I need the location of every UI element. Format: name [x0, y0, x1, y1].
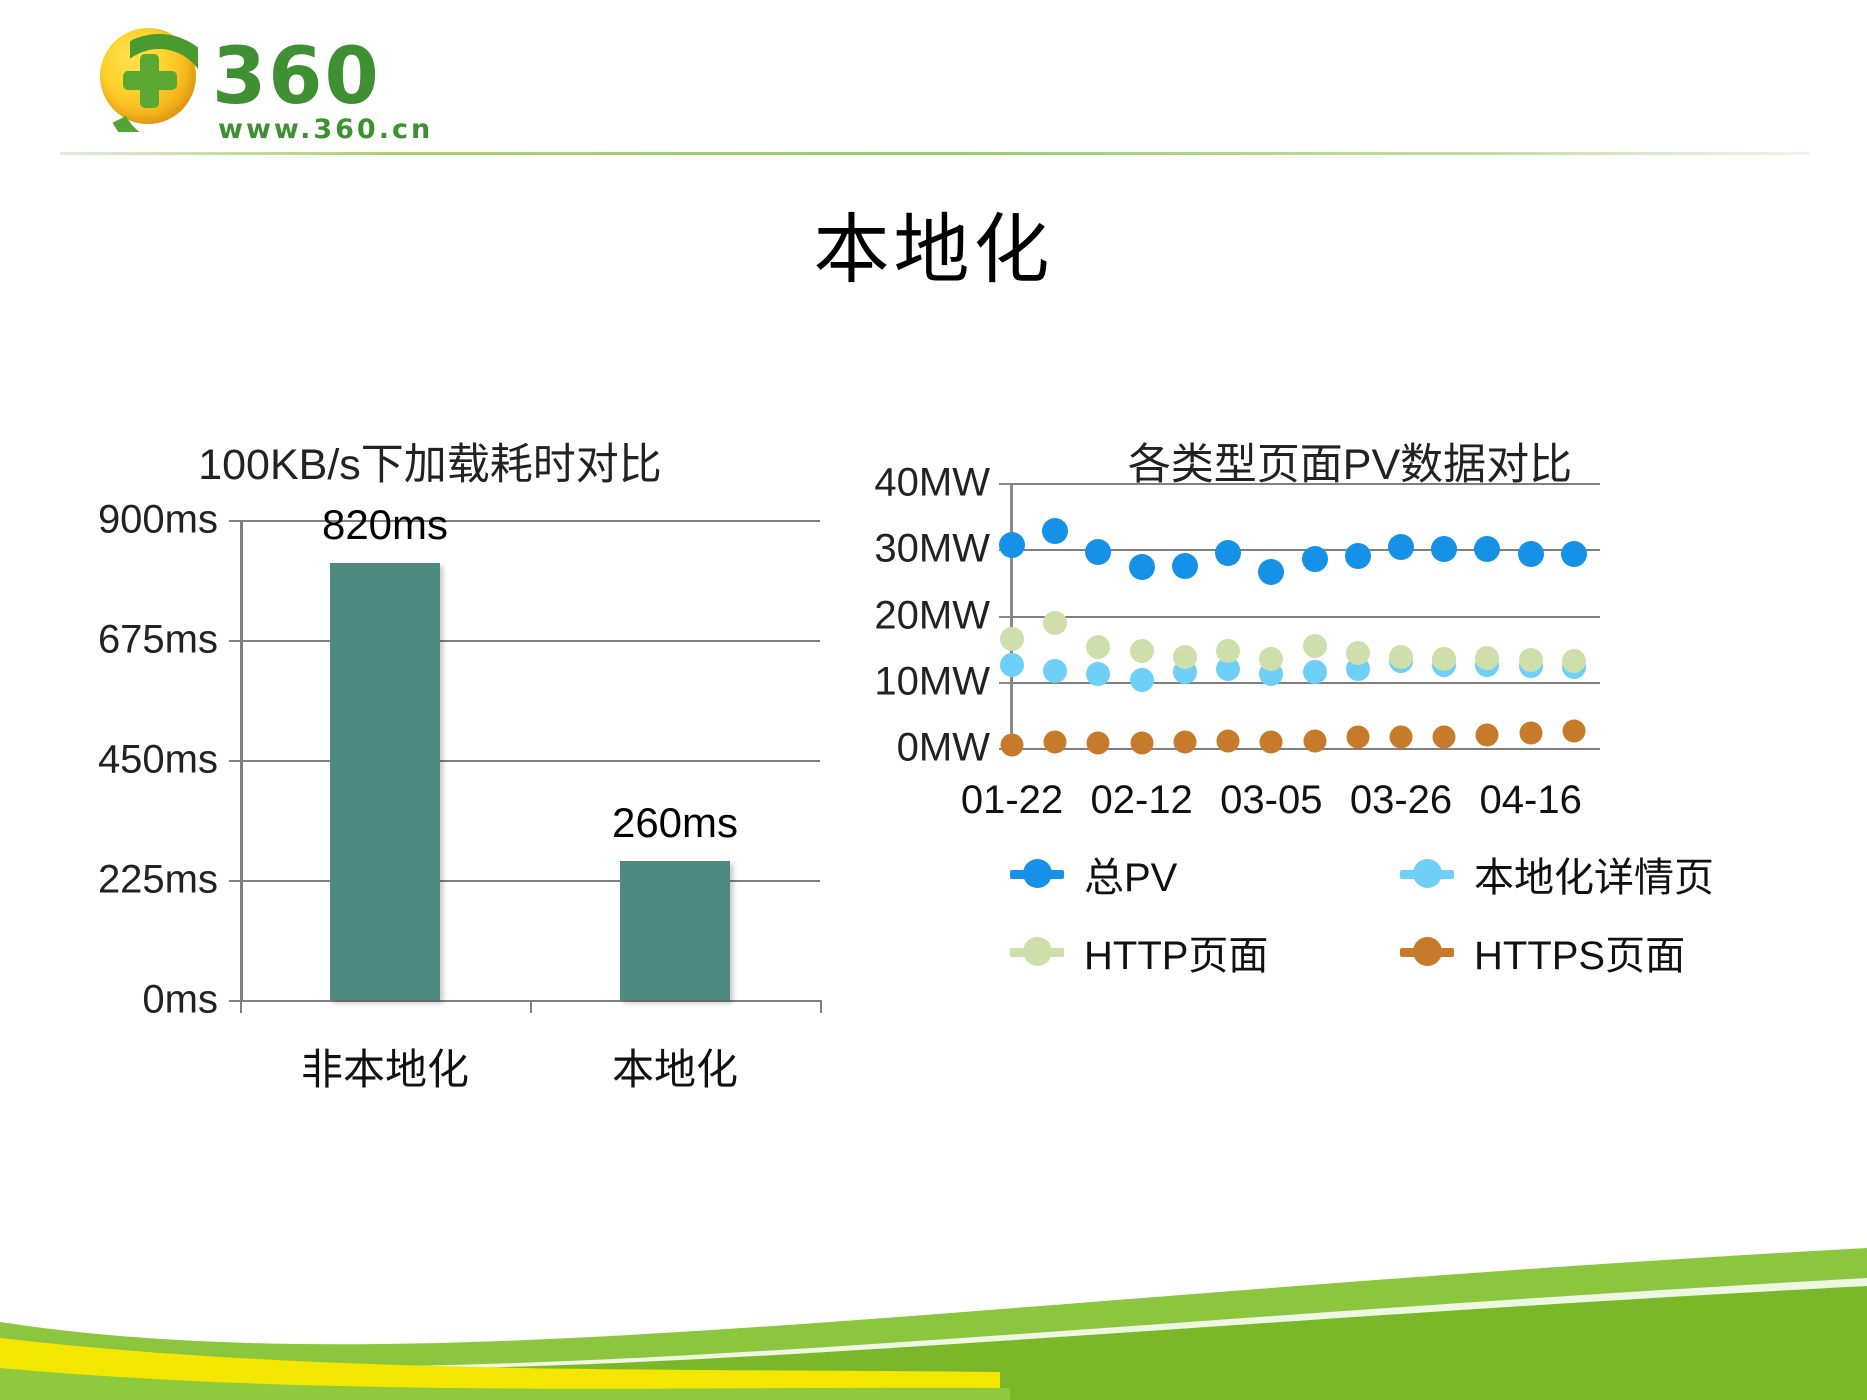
legend-item[interactable]: HTTPS页面: [1400, 923, 1685, 981]
scatter-data-point: [1303, 634, 1327, 658]
legend-label: HTTPS页面: [1474, 923, 1685, 981]
scatter-data-point: [999, 532, 1025, 558]
scatter-data-point: [1000, 627, 1024, 651]
scatter-data-point: [1172, 553, 1198, 579]
legend-label: 总PV: [1084, 845, 1177, 903]
scatter-data-point: [1303, 660, 1327, 684]
bar-chart: 100KB/s下加载耗时对比 900ms675ms450ms225ms0ms82…: [20, 430, 840, 1050]
scatter-data-point: [1346, 641, 1370, 665]
legend-marker-icon: [1010, 937, 1064, 967]
bar-value-label: 260ms: [612, 799, 738, 847]
bar-chart-x-tickmark: [530, 1000, 532, 1013]
scatter-data-point: [1259, 647, 1283, 671]
footer-decoration: [0, 1200, 1867, 1400]
scatter-chart-x-tick-label: 04-16: [1480, 778, 1582, 823]
bar-chart-y-tickmark: [229, 760, 242, 762]
scatter-data-point: [1085, 539, 1111, 565]
scatter-chart-y-tick-label: 40MW: [874, 461, 990, 506]
scatter-data-point: [1476, 724, 1499, 747]
legend-marker-icon: [1400, 859, 1454, 889]
scatter-data-point: [1087, 731, 1110, 754]
brand-logo: 360 www.360.cn: [100, 22, 460, 127]
scatter-data-point: [1475, 646, 1499, 670]
legend-label: HTTP页面: [1084, 923, 1268, 981]
bar-chart-title: 100KB/s下加载耗时对比: [20, 430, 840, 492]
scatter-data-point: [1044, 731, 1067, 754]
scatter-chart-gridline: [1010, 483, 1600, 485]
bar-chart-gridline: [240, 640, 820, 642]
scatter-chart-y-tick-label: 30MW: [874, 527, 990, 572]
header-divider: [60, 152, 1810, 155]
bar-chart-y-tick-label: 0ms: [142, 978, 218, 1023]
bar-chart-y-tick-label: 450ms: [98, 738, 218, 783]
legend-marker-icon: [1400, 937, 1454, 967]
bar: [330, 563, 440, 1000]
scatter-chart: 各类型页面PV数据对比 40MW30MW20MW10MW0MW01-2202-1…: [860, 430, 1840, 1190]
bar-chart-gridline: [240, 760, 820, 762]
scatter-data-point: [1173, 731, 1196, 754]
scatter-data-point: [1346, 726, 1369, 749]
scatter-data-point: [1562, 719, 1585, 742]
logo-url: www.360.cn: [218, 114, 433, 145]
footer-swoosh-icon: [0, 1200, 1867, 1400]
scatter-chart-y-tickmark: [999, 682, 1011, 684]
bar-value-label: 820ms: [322, 501, 448, 549]
scatter-data-point: [1260, 731, 1283, 754]
scatter-data-point: [1217, 729, 1240, 752]
scatter-data-point: [1000, 653, 1024, 677]
scatter-data-point: [1519, 648, 1543, 672]
360-shield-plus-icon: [100, 28, 196, 124]
scatter-data-point: [1130, 639, 1154, 663]
scatter-chart-y-tick-label: 0MW: [897, 726, 990, 771]
scatter-data-point: [1345, 543, 1371, 569]
logo-plus-horizontal-icon: [123, 71, 177, 90]
scatter-data-point: [1130, 732, 1153, 755]
legend-label: 本地化详情页: [1474, 845, 1714, 903]
scatter-data-point: [1258, 559, 1284, 585]
scatter-chart-x-tick-label: 03-05: [1220, 778, 1322, 823]
scatter-data-point: [1562, 649, 1586, 673]
scatter-chart-y-tick-label: 10MW: [874, 659, 990, 704]
page-title: 本地化: [0, 188, 1867, 298]
bar-chart-y-tickmark: [229, 520, 242, 522]
bar-category-label: 非本地化: [301, 1036, 469, 1097]
bar-chart-x-tickmark: [820, 1000, 822, 1013]
scatter-data-point: [1043, 659, 1067, 683]
scatter-data-point: [1129, 554, 1155, 580]
legend-item[interactable]: 总PV: [1010, 845, 1177, 903]
scatter-data-point: [1130, 668, 1154, 692]
scatter-data-point: [1431, 536, 1457, 562]
scatter-data-point: [1215, 540, 1241, 566]
scatter-data-point: [1173, 645, 1197, 669]
scatter-chart-plot-area: 40MW30MW20MW10MW0MW01-2202-1203-0503-260…: [1010, 483, 1600, 748]
bar-category-label: 本地化: [612, 1036, 738, 1097]
scatter-data-point: [1302, 546, 1328, 572]
scatter-data-point: [1086, 635, 1110, 659]
bar-chart-y-tick-label: 675ms: [98, 618, 218, 663]
scatter-data-point: [1389, 645, 1413, 669]
scatter-data-point: [1043, 611, 1067, 635]
bar-chart-gridline: [240, 880, 820, 882]
bar-chart-plot-area: 900ms675ms450ms225ms0ms820ms非本地化260ms本地化: [240, 520, 820, 1000]
scatter-data-point: [1303, 729, 1326, 752]
legend-marker-icon: [1010, 859, 1064, 889]
bar-chart-y-tickmark: [229, 640, 242, 642]
bar-chart-y-tick-label: 900ms: [98, 498, 218, 543]
scatter-data-point: [1388, 534, 1414, 560]
logo-wordmark: 360: [212, 38, 381, 116]
scatter-data-point: [1216, 639, 1240, 663]
scatter-data-point: [1474, 536, 1500, 562]
scatter-chart-x-tick-label: 02-12: [1091, 778, 1193, 823]
scatter-data-point: [1086, 662, 1110, 686]
scatter-chart-gridline: [1010, 616, 1600, 618]
scatter-data-point: [1042, 518, 1068, 544]
scatter-data-point: [1432, 647, 1456, 671]
scatter-chart-y-tickmark: [999, 483, 1011, 485]
scatter-chart-y-tick-label: 20MW: [874, 593, 990, 638]
scatter-data-point: [1001, 734, 1024, 757]
scatter-data-point: [1561, 541, 1587, 567]
bar-chart-x-tickmark: [240, 1000, 242, 1013]
legend-item[interactable]: HTTP页面: [1010, 923, 1268, 981]
bar: [620, 861, 730, 1000]
scatter-chart-x-tick-label: 03-26: [1350, 778, 1452, 823]
scatter-chart-x-tick-label: 01-22: [961, 778, 1063, 823]
legend-item[interactable]: 本地化详情页: [1400, 845, 1714, 903]
scatter-chart-y-tickmark: [999, 616, 1011, 618]
scatter-data-point: [1390, 726, 1413, 749]
slide: 360 www.360.cn 本地化 100KB/s下加载耗时对比 900ms6…: [0, 0, 1867, 1400]
bar-chart-y-tick-label: 225ms: [98, 858, 218, 903]
scatter-data-point: [1519, 722, 1542, 745]
scatter-data-point: [1518, 541, 1544, 567]
bar-chart-y-tickmark: [229, 880, 242, 882]
scatter-data-point: [1433, 725, 1456, 748]
